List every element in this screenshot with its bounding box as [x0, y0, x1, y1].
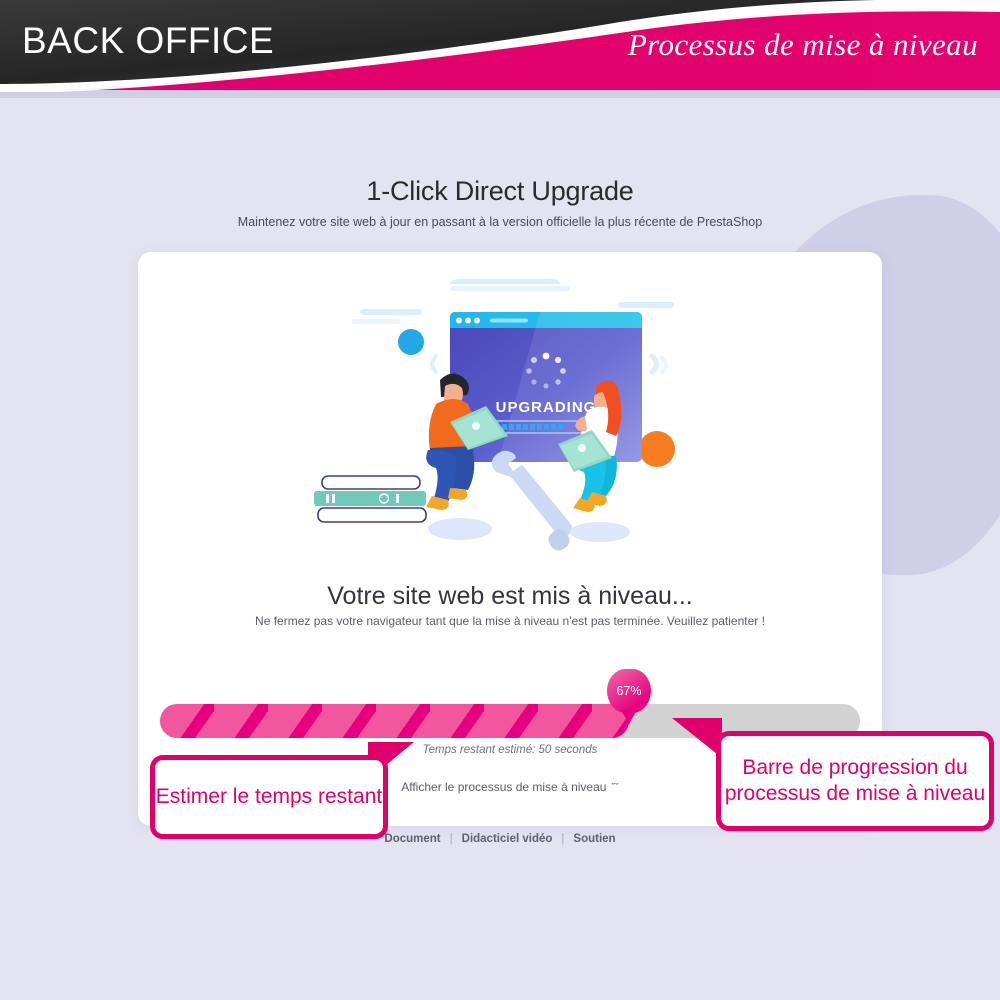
banner-right-title: Processus de mise à niveau	[628, 27, 978, 63]
progress-fill	[160, 704, 629, 738]
page-heading-block: 1-Click Direct Upgrade Maintenez votre s…	[0, 176, 1000, 229]
annotation-progress-bar: Barre de progression du processus de mis…	[716, 731, 994, 831]
chevron-down-icon: ˇˇ	[611, 782, 618, 794]
progress-percent-label: 67%	[607, 669, 651, 713]
page-subtitle: Maintenez votre site web à jour en passa…	[0, 215, 1000, 229]
footer-link-support[interactable]: Soutien	[570, 833, 618, 845]
card-heading: Votre site web est mis à niveau...	[138, 582, 882, 611]
footer-link-document[interactable]: Document	[381, 833, 443, 845]
callout-right-pointer	[672, 718, 722, 758]
banner-left-title: BACK OFFICE	[22, 20, 274, 62]
page-root: BACK OFFICE Processus de mise à niveau 1…	[0, 0, 1000, 1000]
footer-links: Document|Didacticiel vidéo|Soutien	[0, 833, 1000, 845]
upgrade-illustration: UPGRADING	[138, 274, 882, 564]
show-upgrade-process-label: Afficher le processus de mise à niveau	[401, 780, 606, 794]
svg-text:UPGRADING: UPGRADING	[496, 399, 597, 416]
card-subheading: Ne fermez pas votre navigateur tant que …	[138, 614, 882, 628]
footer-link-video-tutorial[interactable]: Didacticiel vidéo	[459, 833, 556, 845]
header-banner: BACK OFFICE Processus de mise à niveau	[0, 0, 1000, 98]
footer-separator-2: |	[555, 833, 570, 845]
progress-percent-badge: 67%	[607, 669, 651, 713]
footer-separator-1: |	[444, 833, 459, 845]
annotation-estimated-time: Estimer le temps restant	[150, 755, 388, 839]
page-title: 1-Click Direct Upgrade	[0, 176, 1000, 207]
